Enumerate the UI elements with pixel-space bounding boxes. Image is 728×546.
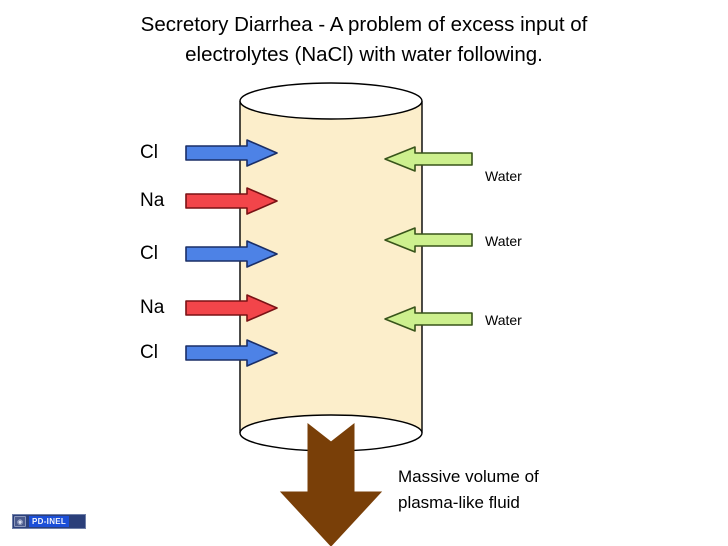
- water-label-3: Water: [485, 313, 522, 327]
- globe-icon: ◉: [14, 516, 26, 527]
- electrolyte-label-cl-2: Cl: [140, 244, 158, 263]
- intestinal-lumen-cylinder: [240, 83, 422, 451]
- cylinder-top-cap: [240, 83, 422, 119]
- electrolyte-label-cl-3: Cl: [140, 343, 158, 362]
- water-label-2: Water: [485, 234, 522, 248]
- electrolyte-label-na-1: Na: [140, 191, 164, 210]
- electrolyte-label-cl-1: Cl: [140, 143, 158, 162]
- slide-canvas: Secretory Diarrhea - A problem of excess…: [0, 0, 728, 546]
- watermark-label: PD-INEL: [29, 516, 69, 527]
- watermark-badge: ◉ PD-INEL: [12, 514, 86, 529]
- outflow-label: Massive volume of plasma-like fluid: [398, 464, 539, 516]
- diagram-graphics: [0, 0, 728, 546]
- electrolyte-label-na-2: Na: [140, 298, 164, 317]
- water-label-1: Water: [485, 169, 522, 183]
